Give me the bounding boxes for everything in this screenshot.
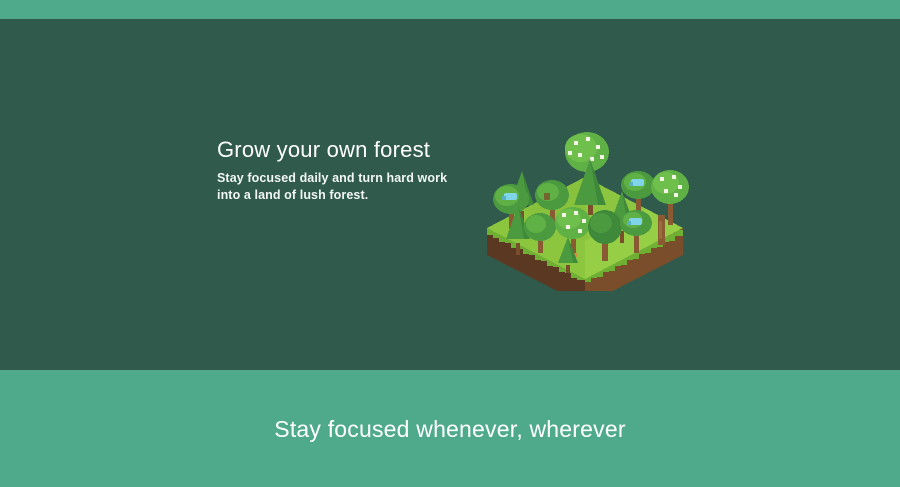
bottom-accent-band: Stay focused whenever, wherever <box>0 370 900 487</box>
trunk-tree-right <box>658 215 665 245</box>
hero-inner: Grow your own forest Stay focused daily … <box>0 19 900 370</box>
hero-subtitle: Stay focused daily and turn hard work in… <box>217 170 487 204</box>
onboarding-screen: Grow your own forest Stay focused daily … <box>0 0 900 487</box>
isometric-forest-svg <box>478 119 710 291</box>
hero-subtitle-line-1: Stay focused daily and turn hard work <box>217 170 487 187</box>
hero-copy: Grow your own forest Stay focused daily … <box>217 136 487 204</box>
top-accent-band <box>0 0 900 19</box>
hero-section: Grow your own forest Stay focused daily … <box>0 19 900 370</box>
tagline: Stay focused whenever, wherever <box>0 415 900 443</box>
page-title: Grow your own forest <box>217 136 487 164</box>
hero-subtitle-line-2: into a land of lush forest. <box>217 187 487 204</box>
forest-island-illustration <box>478 119 710 291</box>
